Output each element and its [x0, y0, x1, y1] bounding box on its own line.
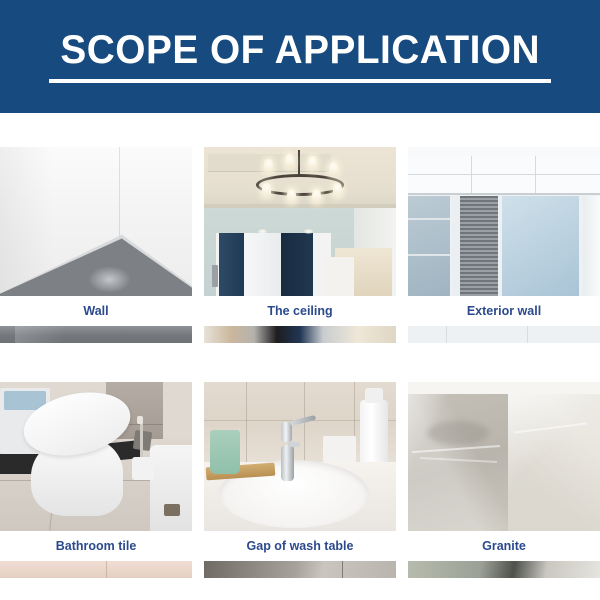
wall-floor-strip-photo — [0, 326, 192, 343]
bathtub-edge — [150, 445, 192, 531]
room-strip-photo — [204, 326, 396, 343]
grid-item-partial-exterior-strip — [408, 326, 600, 343]
application-scope-grid: Wall — [0, 147, 600, 578]
title-underline-rule — [49, 79, 551, 83]
facade-column-right — [583, 196, 600, 296]
chandelier-bulb-icon — [285, 154, 294, 168]
chandelier-stem — [298, 150, 300, 177]
grid-item-exterior-wall[interactable]: Exterior wall — [408, 147, 600, 326]
glass-panel-large — [502, 196, 579, 296]
caption-bathroom-tile: Bathroom tile — [0, 531, 192, 561]
caption-wall: Wall — [0, 296, 192, 326]
room-strip-art — [204, 326, 396, 343]
exterior-wall-photo-art — [408, 147, 600, 296]
wall-photo-art — [0, 147, 192, 296]
chandelier-bulb-icon — [264, 159, 273, 173]
green-cup — [210, 430, 241, 475]
faucet-spout — [288, 442, 300, 447]
faucet-neck — [281, 422, 292, 442]
row-spacer — [0, 343, 600, 382]
ceiling-photo[interactable] — [204, 147, 396, 296]
louver-vent — [460, 196, 498, 296]
soap-dispenser-bottle — [360, 400, 389, 469]
downlight-icon — [258, 229, 267, 234]
grid-item-partial-pink-strip — [0, 561, 192, 578]
grid-item-partial-wall-strip — [0, 326, 192, 343]
grey-counter-strip-art — [204, 561, 396, 578]
curtain-left — [219, 233, 244, 296]
bathroom-tile-photo[interactable] — [0, 382, 192, 531]
panel-seam — [408, 174, 600, 175]
floor-drain-icon — [164, 504, 180, 516]
header-banner: SCOPE OF APPLICATION — [0, 0, 600, 113]
soap-pump-icon — [365, 388, 382, 403]
grey-counter-strip-photo — [204, 561, 396, 578]
curtain-right — [281, 233, 314, 296]
wall-floor-strip-art — [0, 326, 192, 343]
floor-reflection — [88, 266, 130, 293]
green-stone-strip-art — [408, 561, 600, 578]
chandelier-bulb-icon — [308, 156, 317, 170]
facade-panel-band — [408, 156, 600, 195]
bathroom-tile-photo-art — [0, 382, 192, 531]
granite-slab-right — [508, 382, 600, 531]
chandelier-bulb-icon — [312, 189, 321, 203]
facade-column — [452, 196, 460, 296]
granite-photo[interactable] — [408, 382, 600, 531]
window-mullion — [408, 254, 450, 256]
ceiling-photo-art — [204, 147, 396, 296]
page-title: SCOPE OF APPLICATION — [60, 30, 540, 70]
toilet-brush-holder — [132, 457, 153, 481]
wash-table-photo[interactable] — [204, 382, 396, 531]
window-mullion — [408, 218, 450, 220]
caption-granite: Granite — [408, 531, 600, 561]
chandelier-bulb-icon — [262, 183, 271, 197]
glass-window-left — [408, 196, 450, 296]
tile-joint — [304, 382, 305, 468]
wall-photo[interactable] — [0, 147, 192, 296]
grid-item-bathroom-tile[interactable]: Bathroom tile — [0, 382, 192, 561]
granite-photo-art — [408, 382, 600, 531]
grid-item-wall[interactable]: Wall — [0, 147, 192, 326]
granite-top-edge — [408, 382, 600, 394]
chandelier-bulb-icon — [333, 183, 342, 197]
scope-of-application-page: SCOPE OF APPLICATION Wall — [0, 0, 600, 600]
grid-item-partial-room-strip — [204, 326, 396, 343]
exterior-strip-art — [408, 326, 600, 343]
pink-marble-strip-art — [0, 561, 192, 578]
sheer-curtain — [244, 233, 280, 296]
exterior-strip-photo — [408, 326, 600, 343]
caption-the-ceiling: The ceiling — [204, 296, 396, 326]
green-stone-strip-photo — [408, 561, 600, 578]
downlight-icon — [304, 229, 313, 234]
chandelier-bulb-icon — [287, 189, 296, 203]
granite-blotch — [427, 421, 488, 445]
grid-item-partial-green-strip — [408, 561, 600, 578]
faucet-body — [281, 445, 294, 481]
ceiling-edge — [204, 204, 396, 208]
chandelier-bulb-icon — [329, 162, 338, 176]
wash-table-photo-art — [204, 382, 396, 531]
cabinet-secondary — [323, 257, 354, 296]
caption-gap-of-wash-table: Gap of wash table — [204, 531, 396, 561]
wall-corner-line — [119, 147, 120, 245]
grid-item-granite[interactable]: Granite — [408, 382, 600, 561]
exterior-wall-photo[interactable] — [408, 147, 600, 296]
toilet-brush-knob — [137, 416, 143, 424]
caption-exterior-wall: Exterior wall — [408, 296, 600, 326]
light-switch — [212, 265, 218, 287]
tile-joint — [246, 382, 247, 468]
grid-item-ceiling[interactable]: The ceiling — [204, 147, 396, 326]
toilet-brush-handle — [140, 422, 143, 461]
grid-item-partial-grey-strip — [204, 561, 396, 578]
grid-item-wash-table[interactable]: Gap of wash table — [204, 382, 396, 561]
pink-marble-strip-photo — [0, 561, 192, 578]
